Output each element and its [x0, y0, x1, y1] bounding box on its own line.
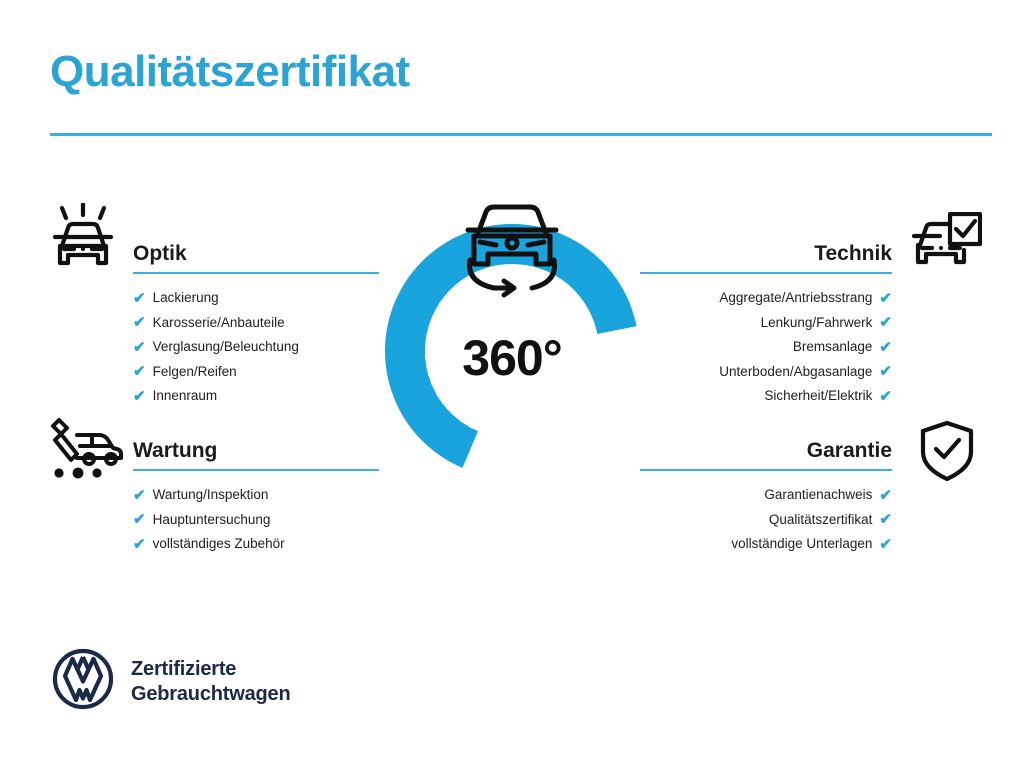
- list-item-label: Verglasung/Beleuchtung: [153, 335, 299, 360]
- list-item: ✔Verglasung/Beleuchtung: [133, 335, 379, 360]
- list-item-label: Innenraum: [153, 384, 218, 409]
- list-item-label: vollständige Unterlagen: [731, 532, 872, 557]
- section-header-garantie: Garantie: [640, 437, 892, 471]
- check-icon: ✔: [879, 512, 892, 527]
- checklist-optik: ✔Lackierung ✔Karosserie/Anbauteile ✔Verg…: [133, 286, 379, 409]
- badge-degrees: 360°: [376, 329, 648, 387]
- list-item-label: Garantienachweis: [764, 483, 872, 508]
- vw-logo-icon: [52, 648, 114, 715]
- check-icon: ✔: [133, 364, 146, 379]
- list-item: Lenkung/Fahrwerk✔: [640, 311, 892, 336]
- list-item: ✔Felgen/Reifen: [133, 360, 379, 385]
- check-icon: ✔: [133, 537, 146, 552]
- list-item-label: Felgen/Reifen: [153, 360, 237, 385]
- page-title: Qualitätszertifikat: [50, 48, 410, 96]
- list-item-label: Unterboden/Abgasanlage: [719, 360, 872, 385]
- list-item-label: Karosserie/Anbauteile: [153, 311, 285, 336]
- list-item-label: Bremsanlage: [793, 335, 873, 360]
- list-item: Aggregate/Antriebsstrang✔: [640, 286, 892, 311]
- section-garantie: Garantie Garantienachweis✔ Qualitätszert…: [640, 437, 892, 557]
- section-title-technik: Technik: [640, 240, 892, 268]
- list-item-label: Lenkung/Fahrwerk: [761, 311, 873, 336]
- checklist-technik: Aggregate/Antriebsstrang✔ Lenkung/Fahrwe…: [640, 286, 892, 409]
- check-icon: ✔: [133, 291, 146, 306]
- footer-line-1: Zertifizierte: [131, 657, 290, 682]
- list-item-label: Lackierung: [153, 286, 219, 311]
- car-shine-icon: [47, 203, 121, 274]
- section-divider-optik: [133, 272, 379, 274]
- section-divider-wartung: [133, 469, 379, 471]
- section-title-optik: Optik: [133, 240, 379, 268]
- list-item-label: vollständiges Zubehör: [153, 532, 285, 557]
- checklist-wartung: ✔Wartung/Inspektion ✔Hauptuntersuchung ✔…: [133, 483, 379, 557]
- list-item: Sicherheit/Elektrik✔: [640, 384, 892, 409]
- section-title-wartung: Wartung: [133, 437, 379, 465]
- check-icon: ✔: [133, 340, 146, 355]
- list-item: ✔Lackierung: [133, 286, 379, 311]
- footer-text: Zertifizierte Gebrauchtwagen: [131, 657, 290, 707]
- list-item-label: Wartung/Inspektion: [153, 483, 269, 508]
- list-item: Bremsanlage✔: [640, 335, 892, 360]
- check-icon: ✔: [133, 389, 146, 404]
- list-item: ✔vollständiges Zubehör: [133, 532, 379, 557]
- check-icon: ✔: [879, 291, 892, 306]
- section-header-wartung: Wartung: [133, 437, 379, 471]
- list-item-label: Hauptuntersuchung: [153, 508, 271, 533]
- section-technik: Technik Aggregate/Antriebsstrang✔ Lenkun…: [640, 240, 892, 409]
- section-wartung: Wartung ✔Wartung/Inspektion ✔Hauptunters…: [133, 437, 379, 557]
- section-header-technik: Technik: [640, 240, 892, 274]
- list-item-label: Aggregate/Antriebsstrang: [719, 286, 872, 311]
- check-icon: ✔: [879, 315, 892, 330]
- section-optik: Optik ✔Lackierung ✔Karosserie/Anbauteile…: [133, 240, 379, 409]
- list-item: ✔Karosserie/Anbauteile: [133, 311, 379, 336]
- list-item: Qualitätszertifikat✔: [640, 508, 892, 533]
- list-item: ✔Hauptuntersuchung: [133, 508, 379, 533]
- list-item-label: Sicherheit/Elektrik: [764, 384, 872, 409]
- footer-brand: Zertifizierte Gebrauchtwagen: [52, 648, 290, 715]
- section-divider-technik: [640, 272, 892, 274]
- section-header-optik: Optik: [133, 240, 379, 274]
- certificate-page: Qualitätszertifikat Optik ✔Lack: [0, 0, 1024, 768]
- car-wrench-icon: [47, 418, 123, 485]
- list-item: Garantienachweis✔: [640, 483, 892, 508]
- list-item-label: Qualitätszertifikat: [769, 508, 873, 533]
- check-icon: ✔: [133, 512, 146, 527]
- list-item: vollständige Unterlagen✔: [640, 532, 892, 557]
- check-icon: ✔: [879, 364, 892, 379]
- check-icon: ✔: [133, 315, 146, 330]
- gebrauchtwagen-check-badge: Gebrauchtwagen-Check 360°: [376, 196, 648, 488]
- check-icon: ✔: [879, 389, 892, 404]
- check-icon: ✔: [133, 488, 146, 503]
- section-divider-garantie: [640, 469, 892, 471]
- check-icon: ✔: [879, 340, 892, 355]
- check-icon: ✔: [879, 537, 892, 552]
- list-item: ✔Wartung/Inspektion: [133, 483, 379, 508]
- car-checkbox-icon: [910, 212, 982, 277]
- list-item: ✔Innenraum: [133, 384, 379, 409]
- header-divider: [50, 133, 992, 136]
- list-item: Unterboden/Abgasanlage✔: [640, 360, 892, 385]
- footer-line-2: Gebrauchtwagen: [131, 682, 290, 707]
- car-rotation-icon: [448, 198, 576, 302]
- shield-check-icon: [919, 420, 975, 487]
- section-title-garantie: Garantie: [640, 437, 892, 465]
- checklist-garantie: Garantienachweis✔ Qualitätszertifikat✔ v…: [640, 483, 892, 557]
- check-icon: ✔: [879, 488, 892, 503]
